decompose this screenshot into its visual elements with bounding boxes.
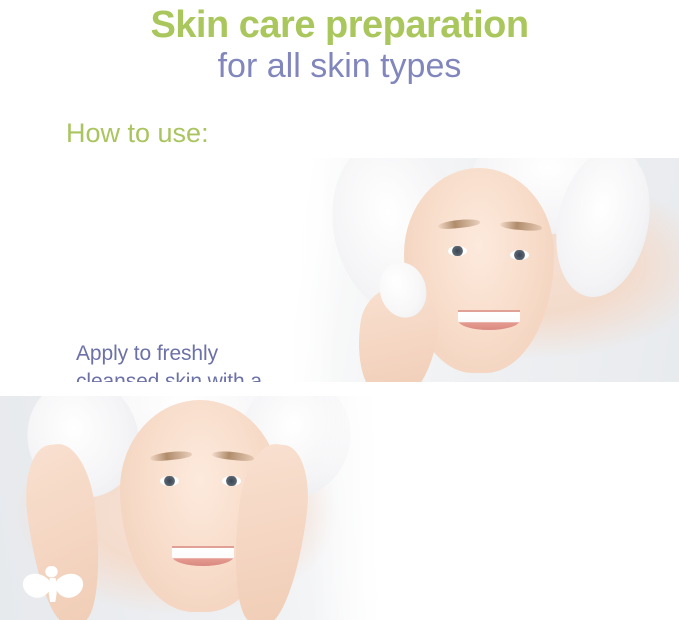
face-shape bbox=[404, 168, 554, 373]
mouth-shape bbox=[458, 310, 520, 330]
towel-shape bbox=[12, 396, 154, 512]
eyebrow-shape bbox=[150, 450, 193, 462]
towel-shape bbox=[314, 158, 484, 331]
step-1-panel: STEP 1 Apply to freshly cleansed skin wi… bbox=[0, 158, 679, 382]
cotton-pad-shape bbox=[373, 257, 433, 324]
eye-shape bbox=[222, 476, 241, 486]
hand-shape bbox=[351, 283, 444, 382]
mouth-shape bbox=[172, 546, 234, 566]
skin-care-infographic: Skin care preparation for all skin types… bbox=[0, 0, 679, 620]
towel-shape bbox=[472, 158, 642, 234]
eye-shape bbox=[160, 476, 179, 486]
eyebrow-shape bbox=[500, 220, 543, 232]
hand-shape bbox=[225, 441, 314, 620]
towel-shape bbox=[224, 396, 366, 512]
step-1-body-text: Apply to freshly cleansed skin with a co… bbox=[76, 340, 306, 382]
eyebrow-shape bbox=[438, 218, 481, 230]
page-title: Skin care preparation bbox=[0, 4, 679, 46]
eye-shape bbox=[448, 246, 467, 256]
how-to-use-heading: How to use: bbox=[66, 118, 209, 149]
eyebrow-shape bbox=[212, 450, 255, 462]
eye-shape bbox=[510, 250, 529, 260]
butterfly-leaf-logo-icon bbox=[22, 552, 84, 610]
step-2-panel: STEP 2 Allow the product to dry without … bbox=[0, 396, 679, 620]
header: Skin care preparation for all skin types bbox=[0, 0, 679, 86]
page-subtitle: for all skin types bbox=[0, 46, 679, 86]
towel-shape bbox=[80, 396, 310, 470]
step-1-photo bbox=[272, 158, 679, 382]
towel-shape bbox=[543, 158, 662, 306]
face-shape bbox=[120, 400, 280, 612]
